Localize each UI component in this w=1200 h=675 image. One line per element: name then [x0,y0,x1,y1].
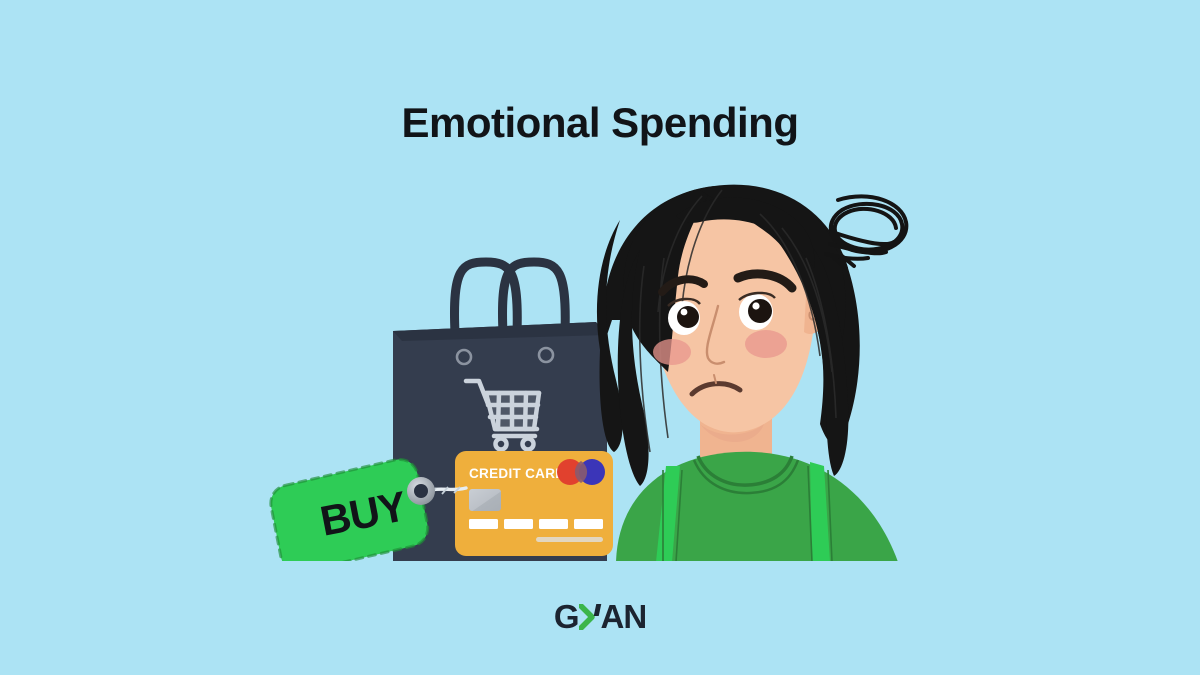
bag-handle-right [502,262,565,333]
card-name-line [536,537,603,542]
illustration-svg: CREDIT CARD [0,0,1200,675]
tag-grommet-hole [414,484,428,498]
logo-text-part1: G [554,600,579,633]
worried-woman-character [597,185,898,562]
blush-right [745,330,787,358]
card-number-block [504,519,533,529]
logo-text-part2: AN [601,600,647,633]
pupil-right [748,299,772,323]
card-chip [469,489,501,511]
brand-logo[interactable]: G AN [0,600,1200,633]
card-number-block [539,519,568,529]
poster-canvas: Emotional Spending [0,0,1200,675]
card-number-block [574,519,603,529]
credit-card: CREDIT CARD [455,451,613,556]
green-chevron-right-icon [579,604,595,630]
eye-highlight-right [752,302,759,309]
credit-card-label: CREDIT CARD [469,466,565,481]
eye-highlight-left [681,309,688,316]
pupil-left [677,306,699,328]
emotional-spending-illustration: CREDIT CARD [0,0,1200,675]
card-number-block [469,519,498,529]
blush-left [653,339,691,365]
confusion-scribble-doodle [826,196,906,268]
